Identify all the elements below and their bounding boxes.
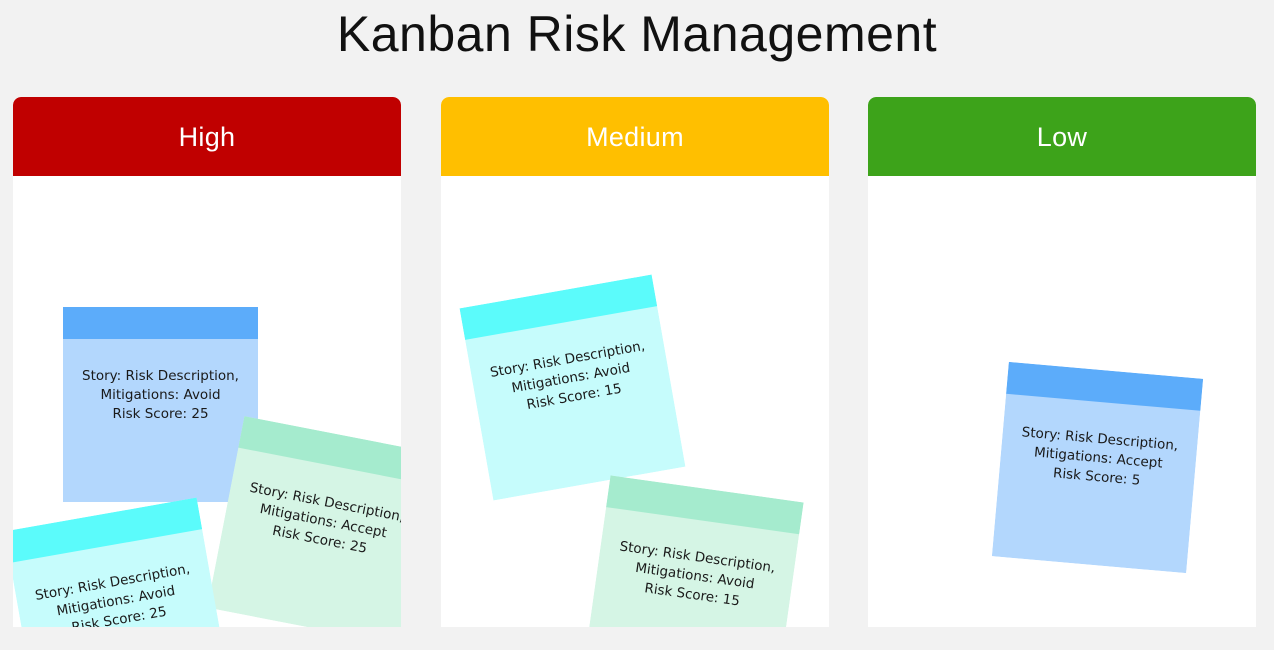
card-text: Story: Risk Description, Mitigations: Ac…	[207, 448, 401, 627]
card-risk-score-line: Risk Score: 25	[112, 405, 208, 424]
column-body-high[interactable]: Story: Risk Description, Mitigations: Av…	[13, 176, 401, 627]
risk-card[interactable]: Story: Risk Description, Mitigations: Ac…	[992, 362, 1203, 573]
column-body-medium[interactable]: Story: Risk Description, Mitigations: Av…	[441, 176, 829, 627]
risk-card[interactable]: Story: Risk Description, Mitigations: Av…	[583, 475, 803, 627]
risk-card[interactable]: Story: Risk Description, Mitigations: Av…	[460, 275, 686, 501]
column-header-medium: Medium	[441, 97, 829, 176]
card-text: Story: Risk Description, Mitigations: Ac…	[992, 394, 1200, 573]
kanban-column-high[interactable]: High Story: Risk Description, Mitigation…	[13, 97, 401, 627]
card-story-line: Story: Risk Description,	[82, 367, 239, 386]
risk-card[interactable]: Story: Risk Description, Mitigations: Av…	[63, 307, 258, 502]
card-text: Story: Risk Description, Mitigations: Av…	[465, 306, 685, 500]
page-title: Kanban Risk Management	[0, 4, 1274, 64]
kanban-column-medium[interactable]: Medium Story: Risk Description, Mitigati…	[441, 97, 829, 627]
kanban-column-low[interactable]: Low Story: Risk Description, Mitigations…	[868, 97, 1256, 627]
column-body-low[interactable]: Story: Risk Description, Mitigations: Ac…	[868, 176, 1256, 627]
card-header-strip	[63, 307, 258, 339]
column-header-low: Low	[868, 97, 1256, 176]
kanban-board: High Story: Risk Description, Mitigation…	[0, 97, 1274, 628]
risk-card[interactable]: Story: Risk Description, Mitigations: Av…	[13, 498, 230, 627]
column-title-low: Low	[1037, 122, 1087, 152]
column-header-high: High	[13, 97, 401, 176]
card-mitigation-line: Mitigations: Avoid	[100, 386, 220, 405]
column-title-medium: Medium	[586, 122, 684, 152]
card-text: Story: Risk Description, Mitigations: Av…	[63, 339, 258, 502]
column-title-high: High	[179, 122, 236, 152]
